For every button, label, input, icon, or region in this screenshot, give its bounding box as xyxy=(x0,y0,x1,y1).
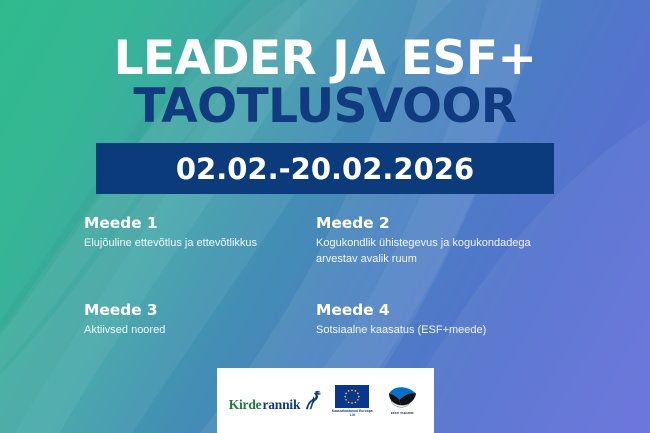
date-banner: 02.02.-20.02.2026 xyxy=(96,143,554,194)
measure-item-3: Meede 3 Aktiivsed noored xyxy=(84,301,316,339)
estonia-logo: EESTI VABARIIK xyxy=(382,386,422,416)
measure-title: Meede 2 xyxy=(316,214,584,232)
eu-flag-icon xyxy=(335,385,369,408)
measure-item-4: Meede 4 Sotsiaalne kaasatus (ESF+meede) xyxy=(316,301,584,339)
measure-item-2: Meede 2 Kogukondlik ühistegevus ja koguk… xyxy=(316,214,584,267)
poster-canvas: LEADER JA ESF+ TAOTLUSVOOR 02.02.-20.02.… xyxy=(0,0,650,433)
estonia-emblem-icon xyxy=(385,386,419,411)
eu-logo: Kaasrahastanud Euroopa Liit xyxy=(331,385,373,417)
headline-block: LEADER JA ESF+ TAOTLUSVOOR xyxy=(0,36,650,131)
measure-description: Kogukondlik ühistegevus ja kogukondadega… xyxy=(316,236,566,267)
estonia-logo-caption: EESTI VABARIIK xyxy=(382,412,422,416)
headline-line-1: LEADER JA ESF+ xyxy=(0,36,650,82)
measure-description: Elujõuline ettevõtlus ja ettevõtlikkus xyxy=(84,236,316,252)
crane-bird-icon xyxy=(301,390,322,410)
eu-logo-caption: Kaasrahastanud Euroopa Liit xyxy=(331,409,373,417)
measure-title: Meede 3 xyxy=(84,301,316,319)
measure-description: Sotsiaalne kaasatus (ESF+meede) xyxy=(316,323,566,339)
measure-title: Meede 4 xyxy=(316,301,584,319)
measures-grid: Meede 1 Elujõuline ettevõtlus ja ettevõt… xyxy=(84,214,584,339)
measure-description: Aktiivsed noored xyxy=(84,323,316,339)
kirderannik-name-part2: rannik xyxy=(262,398,300,412)
logo-bar: Kirde rannik xyxy=(217,368,434,433)
kirderannik-name-part1: Kirde xyxy=(229,398,262,412)
measure-title: Meede 1 xyxy=(84,214,316,232)
date-range-text: 02.02.-20.02.2026 xyxy=(176,152,474,186)
measure-item-1: Meede 1 Elujõuline ettevõtlus ja ettevõt… xyxy=(84,214,316,267)
kirderannik-logo: Kirde rannik xyxy=(229,390,323,411)
headline-line-2: TAOTLUSVOOR xyxy=(0,83,650,131)
